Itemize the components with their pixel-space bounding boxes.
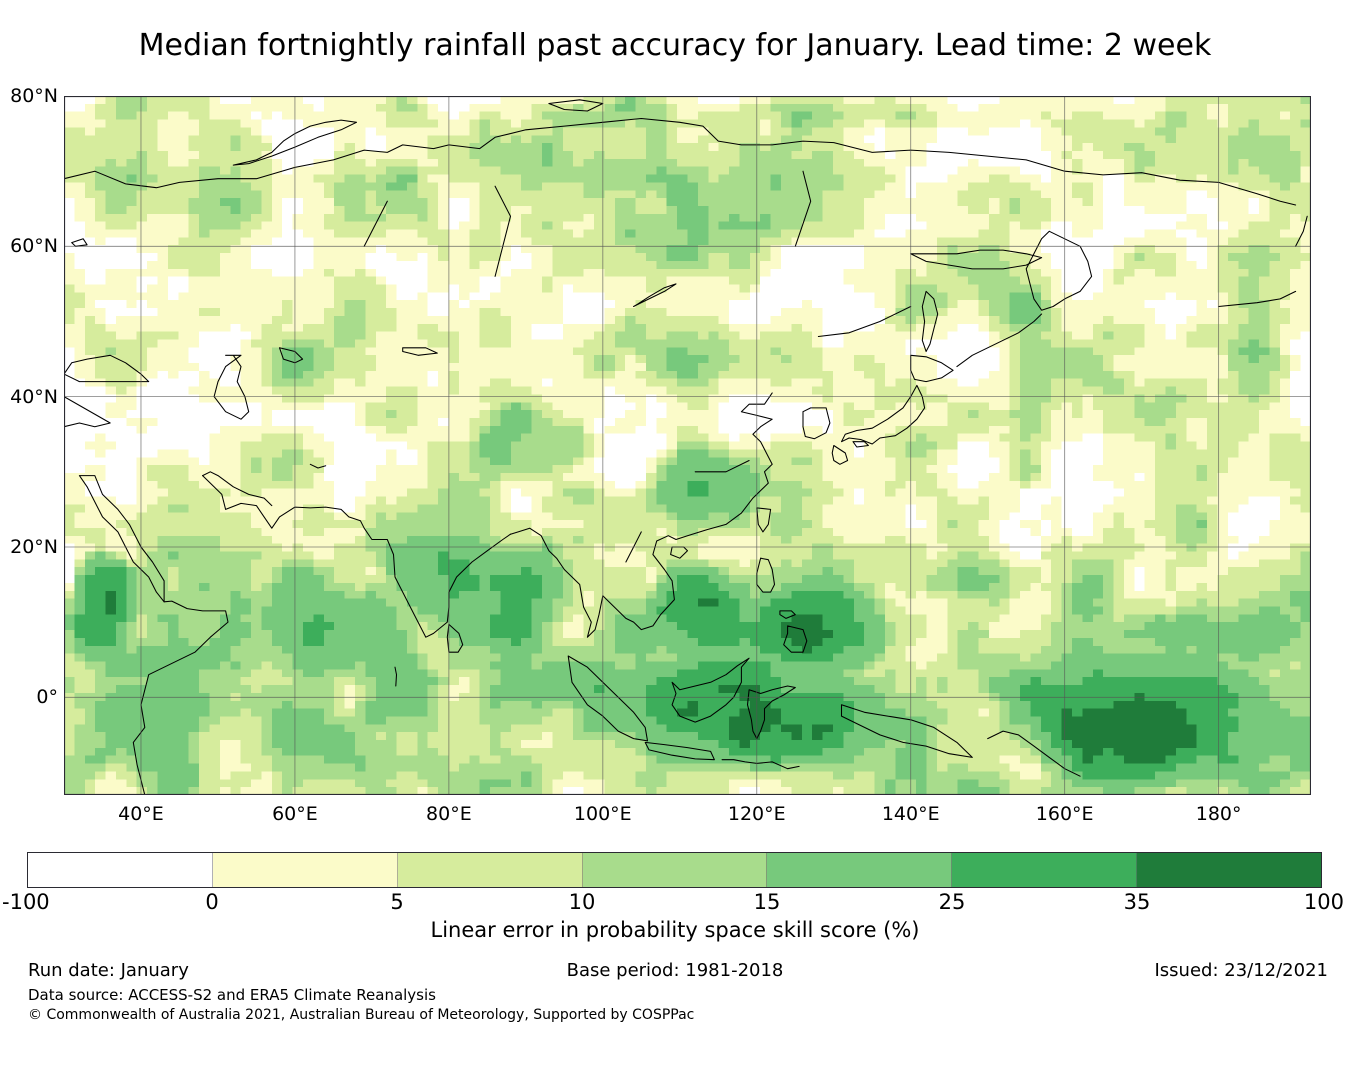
skill-score-map (64, 96, 1311, 795)
colorbar-segment-6[interactable] (1137, 853, 1321, 887)
y-axis-tick-label: 20°N (10, 536, 58, 558)
x-axis-tick-label: 60°E (272, 803, 318, 825)
colorbar-tick-label: 100 (1304, 890, 1344, 914)
footer-issued-date: Issued: 23/12/2021 (1154, 960, 1328, 981)
map-plot-area (64, 96, 1311, 795)
colorbar-segment-4[interactable] (767, 853, 952, 887)
colorbar-segment-2[interactable] (398, 853, 583, 887)
page-title: Median fortnightly rainfall past accurac… (0, 28, 1350, 63)
colorbar-segment-3[interactable] (583, 853, 768, 887)
footer-copyright: © Commonwealth of Australia 2021, Austra… (28, 1007, 694, 1023)
footer-base-period: Base period: 1981-2018 (0, 960, 1350, 981)
colorbar[interactable] (27, 852, 1322, 888)
y-axis-tick-label: 80°N (10, 85, 58, 107)
colorbar-label: Linear error in probability space skill … (0, 918, 1350, 942)
x-axis-tick-label: 100°E (574, 803, 632, 825)
colorbar-segment-1[interactable] (213, 853, 398, 887)
colorbar-tick-label: 35 (1124, 890, 1151, 914)
y-axis-tick-label: 40°N (10, 386, 58, 408)
x-axis-tick-label: 120°E (728, 803, 786, 825)
y-axis-tick-label: 60°N (10, 235, 58, 257)
y-axis-tick-label: 0° (36, 686, 58, 708)
colorbar-tick-label: 0 (205, 890, 218, 914)
x-axis-tick-label: 160°E (1036, 803, 1094, 825)
colorbar-tick-label: 5 (390, 890, 403, 914)
colorbar-tick-label: 15 (754, 890, 781, 914)
colorbar-segment-5[interactable] (952, 853, 1137, 887)
x-axis-tick-label: 80°E (426, 803, 472, 825)
map-field-layer (64, 96, 1311, 795)
colorbar-tick-label: 25 (939, 890, 966, 914)
colorbar-tick-label: -100 (2, 890, 50, 914)
colorbar-tick-label: 10 (569, 890, 596, 914)
x-axis-tick-label: 180° (1196, 803, 1242, 825)
colorbar-segment-0[interactable] (28, 853, 213, 887)
x-axis-tick-label: 140°E (882, 803, 940, 825)
x-axis-tick-label: 40°E (118, 803, 164, 825)
footer-data-source: Data source: ACCESS-S2 and ERA5 Climate … (28, 986, 436, 1004)
